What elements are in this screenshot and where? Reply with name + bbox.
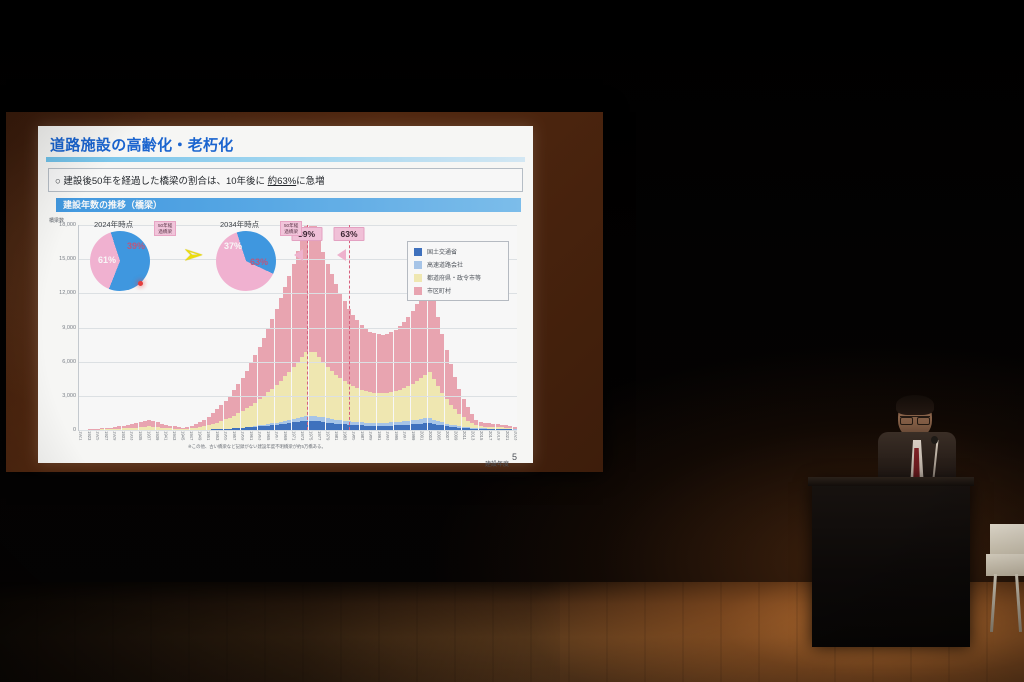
legend-color-swatch	[414, 248, 422, 256]
glasses-icon	[900, 416, 930, 422]
slide-footnote: ※この他、古い橋梁など記録がない建設年度不明橋梁が約5万橋ある。	[188, 444, 326, 450]
tag-line-1: 50年経	[158, 223, 172, 228]
pie-2034-tag: 50年経 過橋梁	[280, 221, 302, 236]
title-underline-band	[46, 157, 525, 162]
pie-2024-tag: 50年経 過橋梁	[154, 221, 176, 236]
floor-shadow	[0, 582, 560, 682]
pie-2034-pink-percent: 63%	[250, 257, 268, 267]
lead-prefix: ○ 建設後50年を経過した橋梁の割合は、10年後に	[55, 176, 268, 187]
legend-item: 高速道路会社	[414, 260, 502, 269]
x-axis-title: 建設年度	[485, 459, 509, 468]
pie-2024-highlight-dot	[138, 281, 143, 286]
projection-screen: 道路施設の高齢化・老朽化 ○ 建設後50年を経過した橋梁の割合は、10年後に 約…	[6, 112, 603, 472]
legend-color-swatch	[414, 261, 422, 269]
y-axis-tick-label: 12,000	[59, 290, 76, 296]
lead-emphasis: 約63%	[268, 176, 297, 187]
legend-item-label: 都道府県・政令市等	[427, 273, 481, 282]
pie-chart-group: 2024年時点 61% 39% 50年経 過橋梁 ➢ 2034年時点 37% 6…	[82, 219, 332, 297]
pie-2024-blue-percent: 61%	[98, 255, 116, 265]
stage-photograph: 道路施設の高齢化・老朽化 ○ 建設後50年を経過した橋梁の割合は、10年後に 約…	[0, 0, 1024, 682]
pie-heading-2034: 2034年時点	[220, 219, 259, 230]
chair-seat	[986, 554, 1024, 576]
slide-title: 道路施設の高齢化・老朽化	[46, 133, 525, 157]
podium-top-surface	[808, 477, 974, 486]
section-header-bar: 建設年数の推移（橋梁）	[56, 198, 521, 212]
gridline	[79, 328, 517, 329]
y-axis-tick-label: 3,000	[62, 393, 76, 399]
y-axis-tick-label: 15,000	[59, 256, 76, 262]
chart-container: 橋梁数 03,0006,0009,00012,00015,00018,000 3…	[48, 215, 523, 467]
slide-lead-statement: ○ 建設後50年を経過した橋梁の割合は、10年後に 約63%に急増	[48, 168, 523, 192]
legend-color-swatch	[414, 274, 422, 282]
marker-percent-label: 63%	[334, 227, 365, 241]
speaker-hair	[896, 395, 934, 415]
legend-item-label: 国土交通省	[427, 247, 457, 256]
chair-backrest	[990, 524, 1024, 556]
microphone-icon	[931, 436, 938, 444]
lead-suffix: に急増	[296, 176, 325, 187]
y-axis-tick-label: 9,000	[62, 325, 76, 331]
pie-heading-2024: 2024年時点	[94, 219, 133, 230]
pie-2024-pink-percent: 39%	[127, 241, 145, 251]
y-axis-tick-label: 18,000	[59, 222, 76, 228]
tag-line-2: 過橋梁	[284, 229, 298, 234]
legend-color-swatch	[414, 287, 422, 295]
marker-line	[349, 225, 350, 430]
tag-line-1: 50年経	[284, 223, 298, 228]
stage-chair	[986, 524, 1024, 632]
right-arrow-icon: ➢	[182, 241, 204, 267]
presentation-slide: 道路施設の高齢化・老朽化 ○ 建設後50年を経過した橋梁の割合は、10年後に 約…	[38, 126, 533, 463]
chart-legend: 国土交通省高速道路会社都道府県・政令市等市区町村	[407, 241, 509, 301]
legend-item-label: 高速道路会社	[427, 260, 463, 269]
y-axis-tick-label: 0	[73, 427, 76, 433]
gridline	[79, 362, 517, 363]
gridline	[79, 396, 517, 397]
pie-2034-blue-percent: 37%	[224, 241, 242, 251]
slide-page-number: 5	[512, 452, 517, 462]
legend-item: 市区町村	[414, 286, 502, 295]
chair-leg-left	[990, 574, 997, 632]
podium	[812, 482, 970, 647]
y-axis-tick-label: 6,000	[62, 359, 76, 365]
legend-item: 国土交通省	[414, 247, 502, 256]
tag-line-2: 過橋梁	[158, 229, 172, 234]
left-arrow-icon	[337, 249, 346, 261]
legend-item: 都道府県・政令市等	[414, 273, 502, 282]
chair-leg-right	[1015, 574, 1022, 632]
legend-item-label: 市区町村	[427, 286, 451, 295]
